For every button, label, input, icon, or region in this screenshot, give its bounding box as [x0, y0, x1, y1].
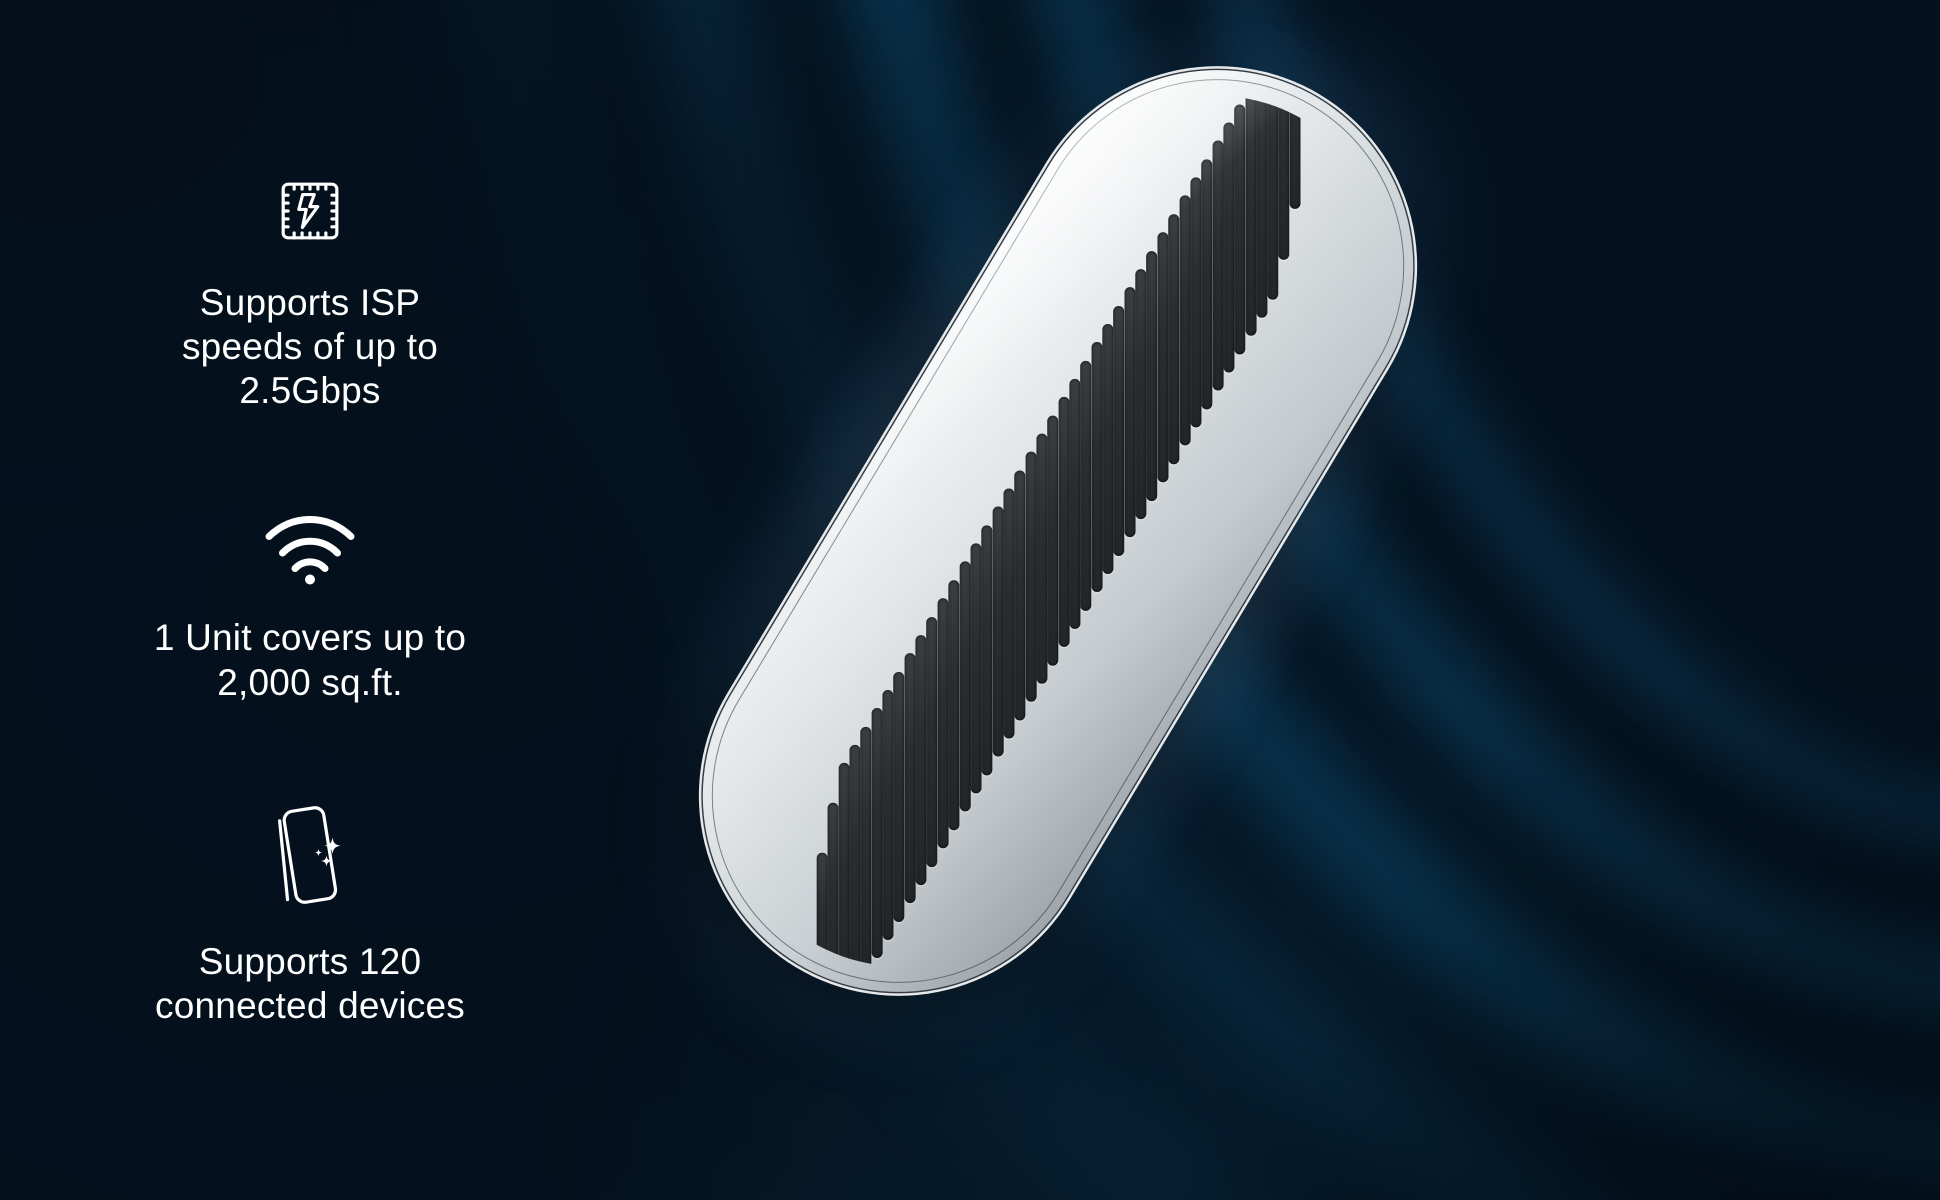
processor-bolt-icon — [271, 172, 349, 255]
feature-label-isp-speed: Supports ISP speeds of up to 2.5Gbps — [182, 281, 438, 413]
feature-item-isp-speed: Supports ISP speeds of up to 2.5Gbps — [60, 172, 560, 413]
product-image — [540, 0, 1940, 1200]
router-body — [630, 0, 1486, 1065]
feature-label-coverage: 1 Unit covers up to 2,000 sq.ft. — [154, 616, 466, 704]
feature-label-devices: Supports 120 connected devices — [155, 940, 465, 1028]
wifi-signal-icon — [262, 511, 358, 590]
feature-item-coverage: 1 Unit covers up to 2,000 sq.ft. — [60, 511, 560, 704]
feature-item-devices: Supports 120 connected devices — [60, 803, 560, 1028]
feature-list: Supports ISP speeds of up to 2.5Gbps 1 U… — [60, 0, 560, 1200]
mesh-wifi-router — [630, 0, 1486, 1065]
smartphone-sparkle-icon — [268, 803, 352, 914]
promo-banner: Supports ISP speeds of up to 2.5Gbps 1 U… — [0, 0, 1940, 1200]
